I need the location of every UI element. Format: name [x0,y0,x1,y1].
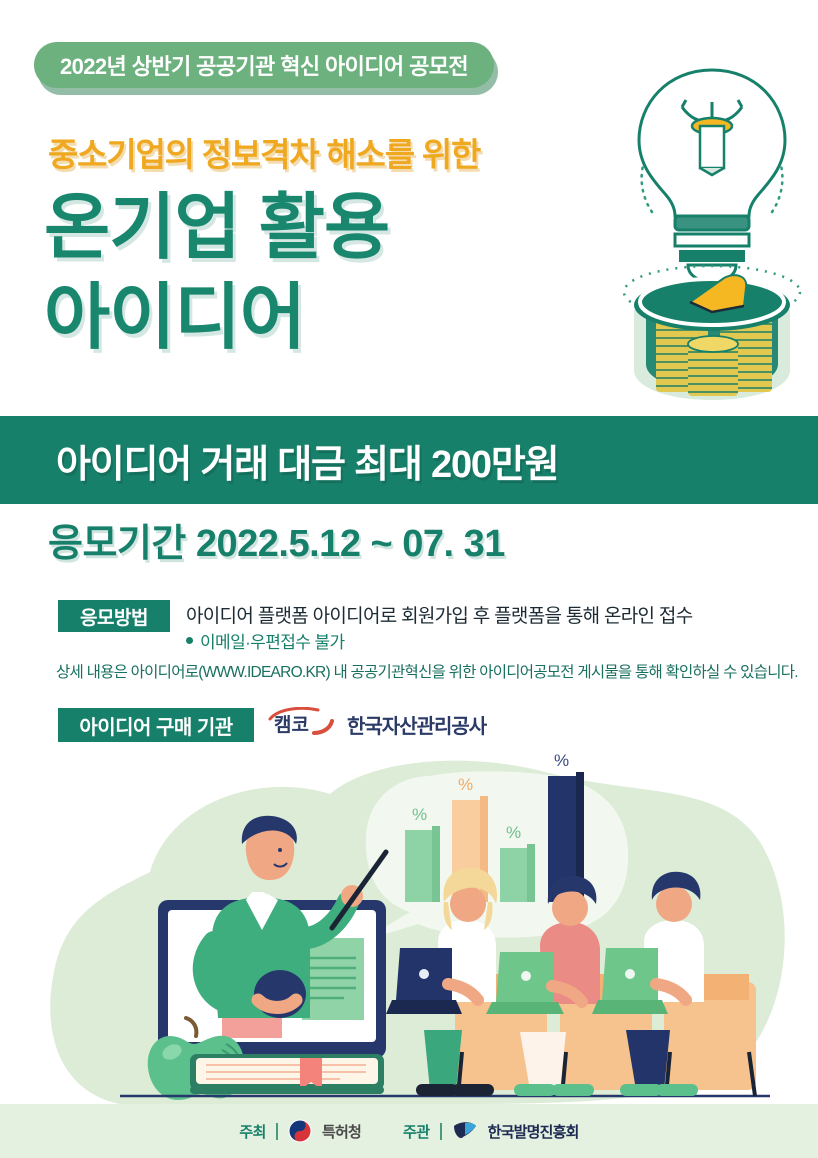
page-title-line1: 온기업 활용 [44,192,389,264]
classroom-illustration: % % % % [0,752,818,1104]
footer-organizer-group: 주관 한국발명진흥회 [403,1120,579,1142]
detail-note: 상세 내용은 아이디어로(WWW.IDEARO.KR) 내 공공기관혁신을 위한… [56,660,798,682]
event-badge-label: 2022년 상반기 공공기관 혁신 아이디어 공모전 [60,49,468,81]
page-title-line2: 아이디어 [44,282,305,354]
footer-divider-2 [440,1123,442,1140]
poster-subtitle: 중소기업의 정보격차 해소를 위한 [48,128,480,176]
coin-jar-icon [624,266,800,400]
application-method-note-label: 이메일·우편접수 불가 [200,628,345,653]
bar-label-1: % [412,805,427,824]
bar-label-4: % [554,752,569,770]
application-method-tag: 응모방법 [58,600,170,632]
bullet-dot-icon [186,637,193,644]
footer-organizer-label: 주관 [403,1121,430,1142]
application-method-tag-label: 응모방법 [80,603,148,630]
bar-label-3: % [506,823,521,842]
taegeuk-emblem-icon [288,1119,312,1143]
poster-root: 2022년 상반기 공공기관 혁신 아이디어 공모전 중소기업의 정보격차 해소… [0,0,818,1158]
lightbulb-icon [639,70,785,282]
footer-organizer-name: 한국발명진흥회 [488,1121,579,1142]
buyer-institution-tag-label: 아이디어 구매 기관 [79,711,232,740]
buyer-institution-tag: 아이디어 구매 기관 [58,708,254,742]
kamco-logo: 캠코 한국자산관리공사 [266,707,486,741]
footer-host-group: 주최 특허청 [239,1119,361,1143]
document-icon [302,938,364,1020]
footer-host-label: 주최 [239,1121,266,1142]
footer: 주최 특허청 주관 한국발명진흥회 [0,1104,818,1158]
application-period: 응모기간 2022.5.12 ~ 07. 31 [48,512,505,567]
application-method-note: 이메일·우편접수 불가 [186,628,345,653]
bar-label-2: % [458,775,473,794]
book-icon [190,1054,384,1094]
kamco-organization-name: 한국자산관리공사 [347,710,486,739]
footer-host-name: 특허청 [322,1121,361,1142]
event-badge: 2022년 상반기 공공기관 혁신 아이디어 공모전 [34,42,494,88]
footer-divider [276,1123,278,1140]
kamco-mark-icon: 캠코 [266,707,340,741]
lightbulb-coins-illustration [612,62,812,407]
kamco-mark-text: 캠코 [274,714,309,736]
kipa-emblem-icon [452,1120,478,1142]
prize-banner-label: 아이디어 거래 대금 최대 200만원 [56,433,558,488]
prize-banner: 아이디어 거래 대금 최대 200만원 [0,416,818,504]
application-method-text: 아이디어 플랫폼 아이디어로 회원가입 후 플랫폼을 통해 온라인 접수 [186,601,692,628]
